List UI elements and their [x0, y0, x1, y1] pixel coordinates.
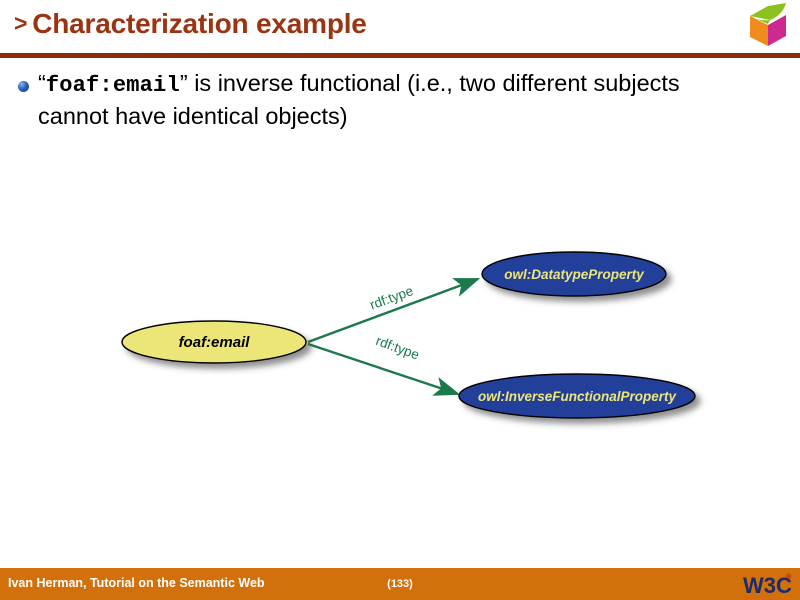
w3c-logo-icon: W3C ®	[742, 570, 794, 598]
page-title-text: Characterization example	[32, 8, 366, 39]
node-foaf-email[interactable]: foaf:email	[122, 321, 306, 363]
edge-label: rdf:type	[368, 283, 415, 312]
blue-sphere-bullet-icon	[18, 81, 29, 92]
edge-rdftype-inversefunctionalproperty: rdf:type	[308, 333, 458, 394]
node-label: owl:InverseFunctionalProperty	[478, 389, 678, 404]
bullet-list: “foaf:email” is inverse functional (i.e.…	[18, 68, 778, 132]
diagram-edges: rdf:type rdf:type	[308, 279, 478, 394]
header-divider	[0, 53, 800, 58]
node-label: foaf:email	[179, 334, 251, 351]
node-owl-datatypeproperty[interactable]: owl:DatatypeProperty	[482, 252, 666, 296]
page-number: (133)	[0, 578, 800, 590]
edge-label: rdf:type	[374, 333, 421, 362]
w3c-logo-text: W3C	[743, 573, 792, 598]
title-chevron-icon: >	[14, 10, 27, 36]
node-owl-inversefunctionalproperty[interactable]: owl:InverseFunctionalProperty	[459, 374, 695, 418]
page-title: >Characterization example	[14, 8, 367, 40]
edge-rdftype-datatypeproperty: rdf:type	[308, 279, 478, 342]
node-label: owl:DatatypeProperty	[504, 267, 645, 282]
bullet-seg-open-quote: “	[38, 70, 46, 96]
w3c-cube-logo-icon	[744, 2, 792, 48]
slide-footer: Ivan Herman, Tutorial on the Semantic We…	[0, 568, 800, 600]
edge-line	[308, 344, 458, 394]
bullet-item-label: “foaf:email” is inverse functional (i.e.…	[38, 68, 743, 132]
w3c-logo-superscript: ®	[786, 573, 792, 581]
rdf-graph-diagram: rdf:type rdf:type foaf:email owl:Datatyp…	[0, 230, 800, 450]
diagram-nodes: foaf:email owl:DatatypeProperty owl:Inve…	[122, 252, 695, 418]
list-item: “foaf:email” is inverse functional (i.e.…	[18, 68, 778, 132]
slide-header: >Characterization example	[0, 0, 800, 56]
bullet-seg-code: foaf:email	[46, 73, 180, 98]
